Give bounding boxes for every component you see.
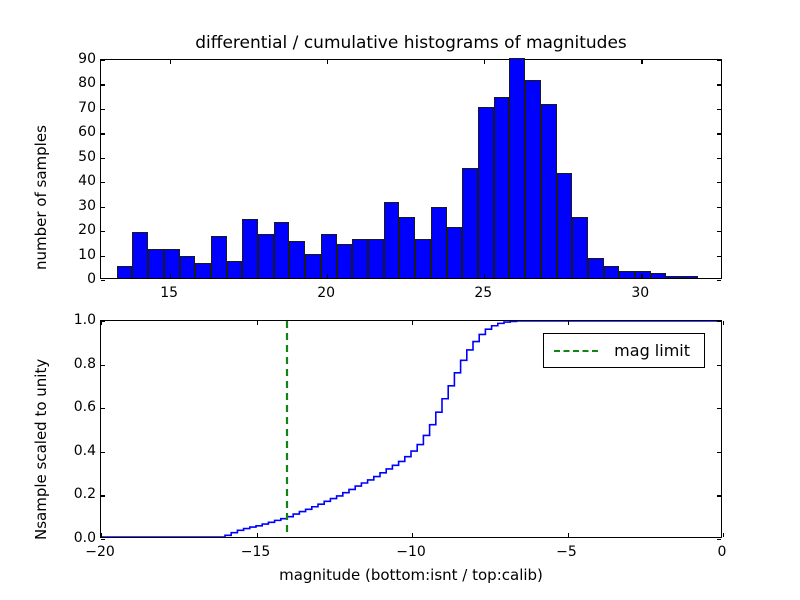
histogram-bar: [651, 273, 667, 278]
tick-mark: [568, 533, 569, 537]
histogram-bar: [525, 80, 541, 278]
histogram-bar: [164, 249, 180, 278]
tick-mark: [568, 321, 569, 325]
histogram-bar: [399, 217, 415, 278]
tick-mark: [101, 109, 105, 110]
histogram-bar: [635, 271, 651, 278]
ytick-label: 0.8: [60, 357, 96, 371]
tick-mark: [101, 539, 105, 540]
ytick-label: 50: [60, 150, 96, 164]
tick-mark: [723, 321, 724, 325]
tick-mark: [327, 274, 328, 278]
histogram-bar: [431, 207, 447, 278]
tick-mark: [717, 256, 721, 257]
tick-mark: [101, 365, 105, 366]
tick-mark: [101, 408, 105, 409]
tick-mark: [257, 321, 258, 325]
tick-mark: [101, 158, 105, 159]
tick-mark: [412, 321, 413, 325]
tick-mark: [101, 84, 105, 85]
histogram-bar: [132, 232, 148, 278]
tick-mark: [101, 231, 105, 232]
histogram-bar: [352, 239, 368, 278]
tick-mark: [484, 274, 485, 278]
bottom-plot-ytick-labels: 0.00.20.40.60.81.0: [52, 320, 96, 538]
histogram-bar: [368, 239, 384, 278]
tick-mark: [101, 495, 105, 496]
tick-mark: [101, 256, 105, 257]
xtick-label: 0: [692, 544, 752, 560]
tick-mark: [641, 60, 642, 64]
histogram-bar: [242, 219, 258, 278]
histogram-bar: [541, 104, 557, 278]
histogram-bar: [211, 236, 227, 278]
histogram-bar: [447, 227, 463, 278]
histogram-bar: [195, 263, 211, 278]
tick-mark: [101, 533, 102, 537]
tick-mark: [717, 109, 721, 110]
tick-mark: [717, 133, 721, 134]
histogram-bar: [117, 266, 133, 278]
ytick-label: 70: [60, 101, 96, 115]
tick-mark: [101, 182, 105, 183]
ytick-label: 0.2: [60, 487, 96, 501]
tick-mark: [717, 365, 721, 366]
xtick-label: −20: [70, 544, 130, 560]
tick-mark: [717, 207, 721, 208]
histogram-bar: [619, 271, 635, 278]
tick-mark: [170, 60, 171, 64]
tick-mark: [717, 158, 721, 159]
histogram-bar: [588, 258, 604, 278]
histogram-bar: [305, 254, 321, 278]
xtick-label: 15: [139, 285, 199, 301]
differential-histogram-axes: [100, 59, 722, 279]
bottom-plot-ylabel: Nsample scaled to unity: [32, 359, 50, 540]
tick-mark: [484, 60, 485, 64]
tick-mark: [412, 533, 413, 537]
histogram-bar: [572, 217, 588, 278]
tick-mark: [717, 60, 721, 61]
tick-mark: [717, 84, 721, 85]
histogram-bar: [478, 107, 494, 278]
tick-mark: [717, 182, 721, 183]
tick-mark: [101, 60, 105, 61]
ytick-label: 1.0: [60, 313, 96, 327]
legend-entry-label: mag limit: [614, 341, 690, 360]
tick-mark: [717, 495, 721, 496]
tick-mark: [101, 133, 105, 134]
tick-mark: [717, 321, 721, 322]
histogram-bar: [258, 234, 274, 278]
xtick-label: −10: [381, 544, 441, 560]
xtick-label: −15: [226, 544, 286, 560]
tick-mark: [170, 274, 171, 278]
ytick-label: 30: [60, 199, 96, 213]
page-title: differential / cumulative histograms of …: [100, 33, 722, 53]
histogram-bar: [321, 234, 337, 278]
histogram-bar: [557, 173, 573, 278]
cumulative-histogram-axes: mag limit: [100, 320, 722, 538]
ytick-label: 0.4: [60, 444, 96, 458]
xtick-label: 20: [296, 285, 356, 301]
bottom-plot-xlabel: magnitude (bottom:isnt / top:calib): [100, 566, 722, 584]
ytick-label: 90: [60, 52, 96, 66]
histogram-bar: [274, 222, 290, 278]
tick-mark: [723, 533, 724, 537]
histogram-bar: [148, 249, 164, 278]
tick-mark: [327, 60, 328, 64]
histogram-bar: [509, 58, 525, 278]
ytick-label: 40: [60, 174, 96, 188]
histogram-bar: [384, 202, 400, 278]
tick-mark: [717, 408, 721, 409]
xtick-label: 30: [610, 285, 670, 301]
figure-canvas: differential / cumulative histograms of …: [0, 0, 800, 600]
histogram-bar: [180, 256, 196, 278]
tick-mark: [101, 207, 105, 208]
histogram-bar: [604, 266, 620, 278]
ytick-label: 60: [60, 125, 96, 139]
histogram-bar: [462, 168, 478, 278]
tick-mark: [101, 452, 105, 453]
xtick-label: −5: [537, 544, 597, 560]
tick-mark: [717, 539, 721, 540]
ytick-label: 0: [60, 272, 96, 286]
ytick-label: 80: [60, 76, 96, 90]
histogram-bar: [337, 244, 353, 278]
ytick-label: 20: [60, 223, 96, 237]
tick-mark: [717, 452, 721, 453]
ytick-label: 10: [60, 248, 96, 262]
tick-mark: [101, 280, 105, 281]
ytick-label: 0.0: [60, 531, 96, 545]
histogram-bar: [289, 241, 305, 278]
histogram-bar: [494, 97, 510, 278]
tick-mark: [717, 280, 721, 281]
xtick-label: 25: [453, 285, 513, 301]
top-plot-ylabel: number of samples: [32, 125, 50, 270]
tick-mark: [717, 231, 721, 232]
histogram-bar: [415, 239, 431, 278]
histogram-bar: [682, 276, 698, 278]
legend: mag limit: [543, 333, 705, 368]
mag-limit-line-swatch-icon: [554, 350, 598, 352]
ytick-label: 0.6: [60, 400, 96, 414]
tick-mark: [101, 321, 102, 325]
tick-mark: [257, 533, 258, 537]
histogram-bar: [227, 261, 243, 278]
tick-mark: [641, 274, 642, 278]
top-plot-ytick-labels: 0102030405060708090: [52, 59, 96, 279]
histogram-bar: [666, 276, 682, 278]
